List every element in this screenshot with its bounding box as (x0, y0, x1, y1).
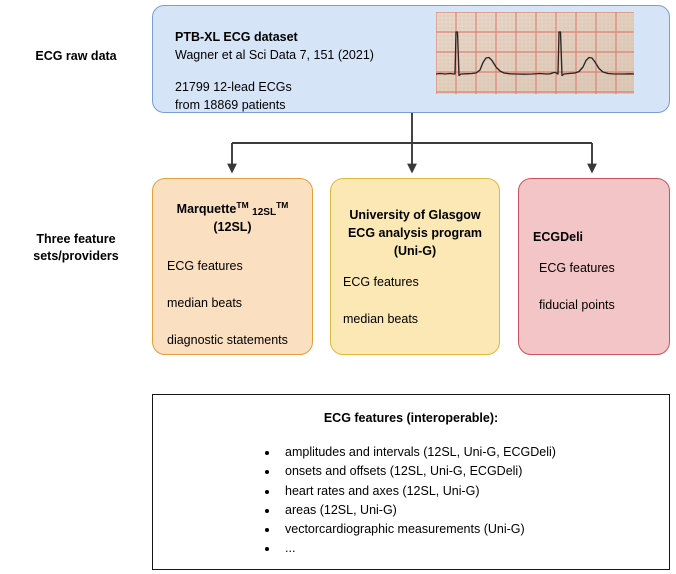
provider-box-12sl: MarquetteTM 12SLTM (12SL) ECG features m… (152, 178, 313, 355)
dataset-citation: Wagner et al Sci Data 7, 151 (2021) (175, 46, 435, 64)
list-item: areas (12SL, Uni-G) (279, 501, 556, 520)
provider-title-ecgdeli: ECGDeli (519, 229, 669, 247)
provider-title-12sl: MarquetteTM 12SLTM (12SL) (153, 199, 312, 237)
ecg-strip-photo-icon (436, 12, 634, 94)
trademark-superscript-1: TM (236, 200, 248, 210)
provider-items-unig: ECG features median beats (331, 273, 499, 328)
provider-title-line2: ECG analysis program (331, 225, 499, 243)
list-item: fiducial points (539, 296, 669, 314)
provider-title-line3: (Uni-G) (331, 243, 499, 261)
list-item: ECG features (539, 259, 669, 277)
list-item: vectorcardiographic measurements (Uni-G) (279, 520, 556, 539)
provider-title-line1: University of Glasgow (331, 207, 499, 225)
trademark-superscript-2: TM (276, 200, 288, 210)
dataset-text-block: PTB-XL ECG dataset Wagner et al Sci Data… (175, 28, 435, 115)
list-item: median beats (167, 294, 312, 312)
dataset-text-spacer (175, 64, 435, 78)
dataset-count-ecgs: 21799 12-lead ECGs (175, 78, 435, 96)
features-bullet-list: amplitudes and intervals (12SL, Uni-G, E… (261, 443, 556, 559)
provider-box-ecgdeli: ECGDeli ECG features fiducial points (518, 178, 670, 355)
list-item: onsets and offsets (12SL, Uni-G, ECGDeli… (279, 462, 556, 481)
row-label-three-feature-sets: Three feature sets/providers (6, 231, 146, 265)
list-item: ... (279, 539, 556, 558)
list-item: heart rates and axes (12SL, Uni-G) (279, 482, 556, 501)
provider-title-mid: 12SL (252, 207, 276, 218)
dataset-title: PTB-XL ECG dataset (175, 28, 435, 46)
list-item: ECG features (343, 273, 499, 291)
dataset-count-patients: from 18869 patients (175, 96, 435, 114)
list-item: amplitudes and intervals (12SL, Uni-G, E… (279, 443, 556, 462)
provider-title-line1: ECGDeli (533, 229, 669, 247)
provider-title-unig: University of Glasgow ECG analysis progr… (331, 207, 499, 260)
provider-items-ecgdeli: ECG features fiducial points (519, 259, 669, 314)
row-label-ecg-raw-data: ECG raw data (6, 48, 146, 65)
provider-title-line2: (12SL) (153, 219, 312, 237)
list-item: median beats (343, 310, 499, 328)
list-item: diagnostic statements (167, 331, 312, 349)
features-title: ECG features (interoperable): (153, 411, 669, 425)
ptb-xl-dataset-box: PTB-XL ECG dataset Wagner et al Sci Data… (152, 5, 670, 113)
provider-box-unig: University of Glasgow ECG analysis progr… (330, 178, 500, 355)
ecg-features-box: ECG features (interoperable): amplitudes… (152, 394, 670, 570)
provider-items-12sl: ECG features median beats diagnostic sta… (153, 257, 312, 349)
provider-title-main: Marquette (177, 202, 237, 216)
list-item: ECG features (167, 257, 312, 275)
